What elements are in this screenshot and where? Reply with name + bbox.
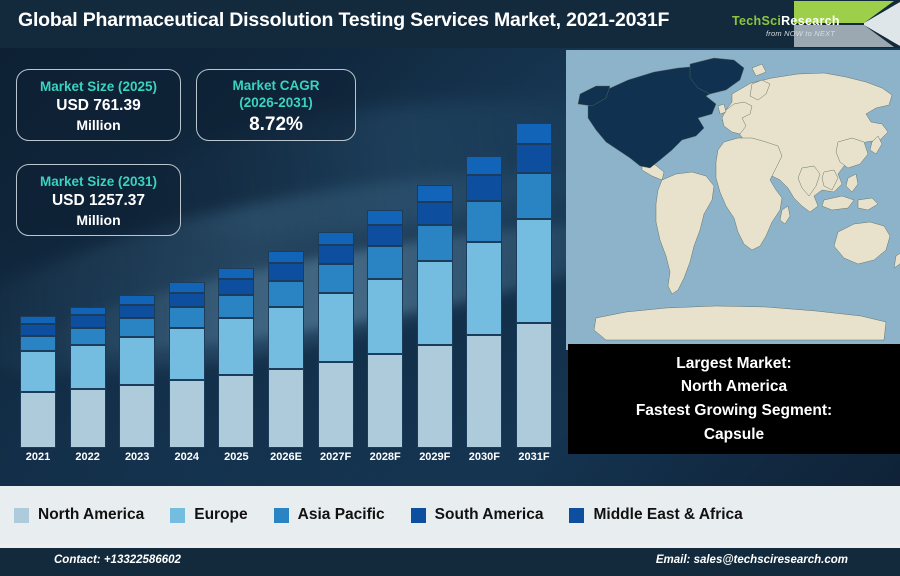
bar-segment-south-america [367,225,403,246]
bar-segment-asia-pacific [516,173,552,219]
bar-segment-europe [20,351,56,392]
callout-fastest-segment-label: Fastest Growing Segment: [568,399,900,423]
bar-segment-europe [119,337,155,385]
x-axis-tick-2028F: 2028F [358,451,412,463]
bar-segment-middle-east-africa [169,282,205,292]
bar-segment-europe [466,242,502,335]
main-stage: Market Size (2025) USD 761.39 Million Ma… [0,48,900,486]
bar-segment-europe [70,345,106,389]
bar-segment-south-america [169,293,205,307]
bar-segment-south-america [218,279,254,295]
legend-item-asia-pacific[interactable]: Asia Pacific [274,506,385,524]
bar-2025 [218,268,254,448]
bar-segment-asia-pacific [466,201,502,242]
bar-segment-europe [417,261,453,345]
bar-segment-north-america [169,380,205,448]
logo-tagline: from NOW to NEXT [766,29,835,38]
bar-2024 [169,282,205,448]
bar-segment-asia-pacific [169,307,205,328]
footer-bar: Contact: +13322586602 Email: sales@techs… [0,548,900,576]
bar-segment-middle-east-africa [119,295,155,305]
legend-swatch-icon [170,508,185,523]
chart-x-axis: 202120222023202420252026E2027F2028F2029F… [0,448,566,474]
bar-segment-asia-pacific [268,281,304,307]
bar-segment-south-america [70,315,106,327]
x-axis-tick-2031F: 2031F [507,451,561,463]
bar-segment-middle-east-africa [417,185,453,202]
bar-2023 [119,295,155,448]
bar-2027F [318,232,354,448]
bar-segment-north-america [516,323,552,448]
bar-segment-north-america [20,392,56,448]
logo-wordmark: TechSciResearch [732,14,840,28]
bar-segment-europe [169,328,205,380]
world-map [566,50,900,350]
bar-segment-middle-east-africa [318,232,354,246]
bar-segment-north-america [70,389,106,448]
bar-segment-asia-pacific [417,225,453,261]
legend-swatch-icon [14,508,29,523]
legend-label: South America [435,506,544,524]
footer-email: Email: sales@techsciresearch.com [656,554,848,566]
legend-item-south-america[interactable]: South America [411,506,544,524]
bar-segment-north-america [218,375,254,448]
bar-segment-middle-east-africa [367,210,403,225]
legend-item-middle-east-africa[interactable]: Middle East & Africa [569,506,742,524]
bar-segment-south-america [516,144,552,173]
bar-segment-north-america [268,369,304,448]
bar-segment-north-america [318,362,354,448]
x-axis-tick-2024: 2024 [160,451,214,463]
bar-segment-south-america [466,175,502,201]
bar-segment-south-america [119,305,155,318]
bar-segment-south-america [20,324,56,335]
legend-swatch-icon [569,508,584,523]
legend-item-europe[interactable]: Europe [170,506,247,524]
bar-2022 [70,307,106,448]
x-axis-tick-2023: 2023 [110,451,164,463]
callout-largest-market-value: North America [568,375,900,399]
legend-label: Europe [194,506,247,524]
legend-item-north-america[interactable]: North America [14,506,144,524]
bar-segment-middle-east-africa [218,268,254,279]
bar-segment-south-america [318,245,354,264]
bar-2029F [417,185,453,448]
legend-swatch-icon [274,508,289,523]
bar-segment-middle-east-africa [516,123,552,144]
bar-segment-asia-pacific [318,264,354,293]
bar-segment-europe [367,279,403,354]
legend-swatch-icon [411,508,426,523]
bar-segment-europe [268,307,304,369]
bar-segment-middle-east-africa [268,251,304,263]
bar-segment-south-america [417,202,453,226]
bar-segment-europe [218,318,254,375]
x-axis-tick-2026E: 2026E [259,451,313,463]
bar-segment-north-america [466,335,502,448]
bar-2021 [20,316,56,448]
bar-segment-europe [516,219,552,323]
callout-fastest-segment-value: Capsule [568,423,900,447]
brand-logo: TechSciResearch from NOW to NEXT [714,0,900,48]
bar-2031F [516,123,552,448]
x-axis-tick-2027F: 2027F [309,451,363,463]
legend-label: Middle East & Africa [593,506,742,524]
x-axis-tick-2029F: 2029F [408,451,462,463]
world-map-svg [566,50,900,350]
bar-segment-north-america [119,385,155,448]
logo-text-research: Research [781,14,840,28]
bar-2028F [367,210,403,448]
bar-segment-asia-pacific [119,318,155,337]
x-axis-tick-2030F: 2030F [457,451,511,463]
bar-2030F [466,156,502,448]
bar-segment-middle-east-africa [20,316,56,324]
header-bar: Global Pharmaceutical Dissolution Testin… [0,0,900,48]
x-axis-tick-2021: 2021 [11,451,65,463]
bar-segment-north-america [417,345,453,448]
callout-box: Largest Market: North America Fastest Gr… [568,344,900,454]
legend-label: North America [38,506,144,524]
bar-segment-middle-east-africa [70,307,106,316]
bar-segment-europe [318,293,354,362]
bar-segment-asia-pacific [367,246,403,278]
legend-label: Asia Pacific [298,506,385,524]
bar-segment-middle-east-africa [466,156,502,175]
infographic-page: Global Pharmaceutical Dissolution Testin… [0,0,900,576]
bar-segment-asia-pacific [70,328,106,345]
footer-contact: Contact: +13322586602 [54,554,181,566]
callout-largest-market-label: Largest Market: [568,352,900,376]
bar-segment-asia-pacific [20,336,56,352]
stacked-bar-chart: 202120222023202420252026E2027F2028F2029F… [0,48,566,448]
bar-segment-asia-pacific [218,295,254,318]
logo-text-techsci: TechSci [732,14,781,28]
page-title: Global Pharmaceutical Dissolution Testin… [18,9,718,32]
bar-segment-south-america [268,263,304,280]
bar-segment-north-america [367,354,403,448]
chart-legend: North AmericaEuropeAsia PacificSouth Ame… [0,486,900,544]
x-axis-tick-2022: 2022 [61,451,115,463]
bar-2026E [268,251,304,448]
x-axis-tick-2025: 2025 [209,451,263,463]
